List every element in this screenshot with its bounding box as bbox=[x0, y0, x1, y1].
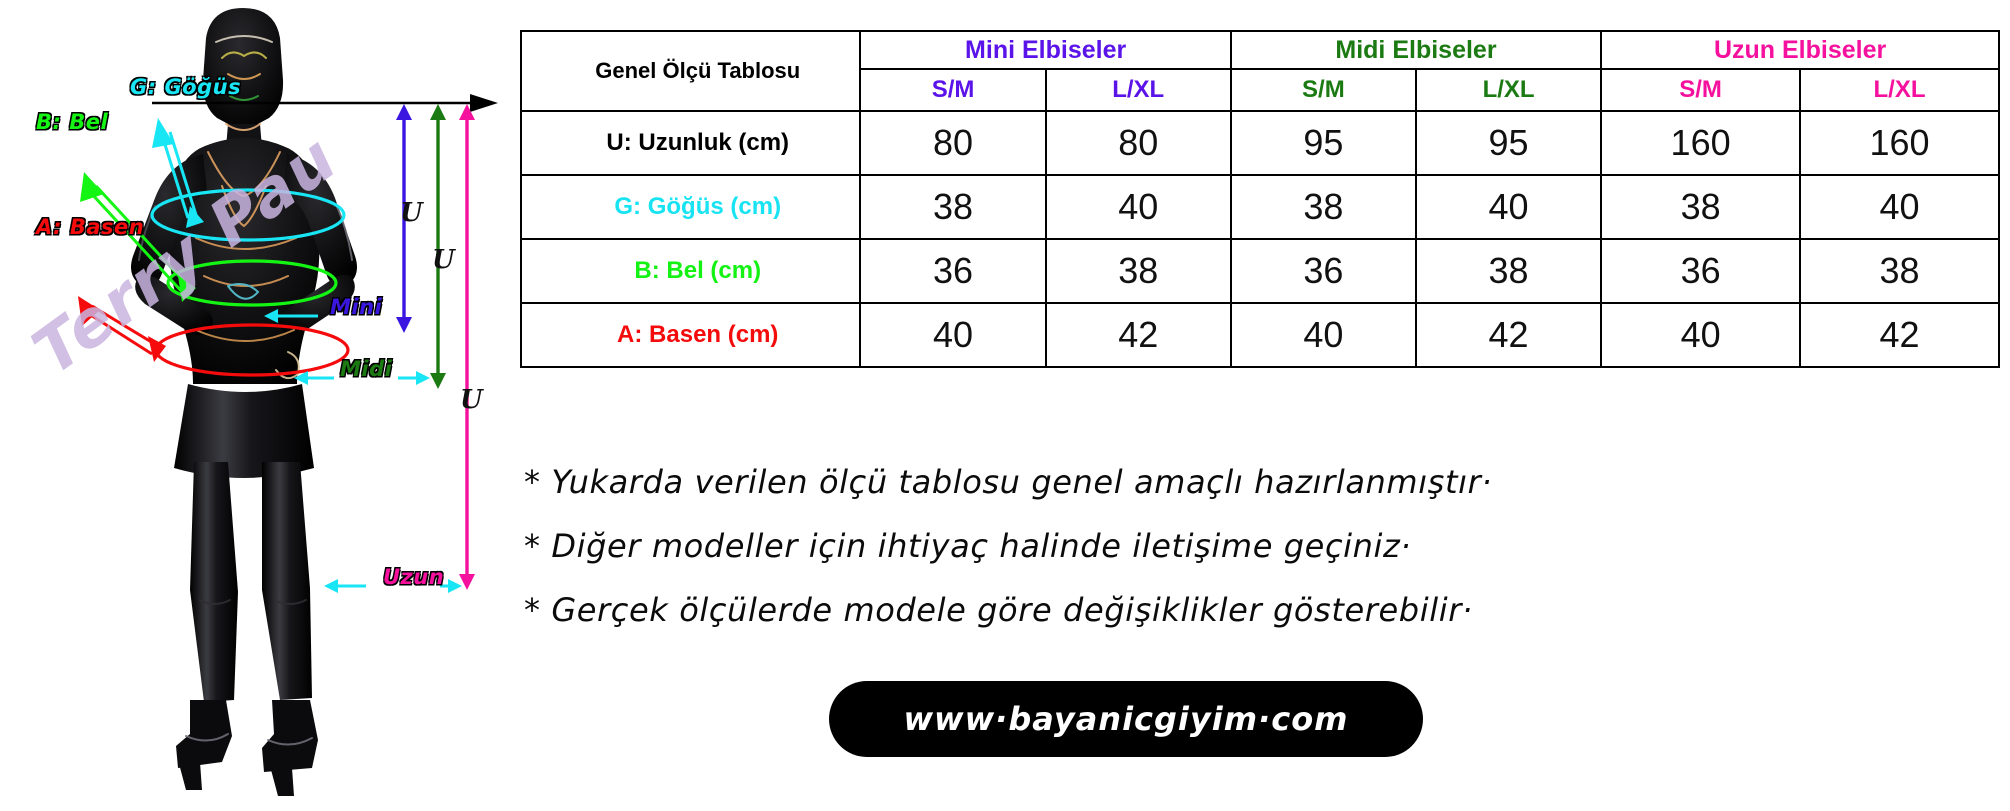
cell-bel-mini-lxl: 38 bbox=[1046, 239, 1231, 303]
cell-gogus-midi-lxl: 40 bbox=[1416, 175, 1601, 239]
uzun-length-arrow bbox=[459, 104, 475, 590]
group-header-mini: Mini Elbiseler bbox=[860, 31, 1230, 69]
cell-gogus-midi-sm: 38 bbox=[1231, 175, 1416, 239]
note-3: * Gerçek ölçülerde modele göre değişikli… bbox=[518, 578, 2010, 642]
size-header-midi-lxl: L/XL bbox=[1416, 69, 1601, 111]
length-marker-midi: U bbox=[432, 245, 455, 275]
cell-basen-mini-lxl: 42 bbox=[1046, 303, 1231, 367]
cell-uzunluk-mini-sm: 80 bbox=[860, 111, 1045, 175]
female-figure-silhouette bbox=[131, 8, 357, 796]
size-header-uzun-lxl: L/XL bbox=[1800, 69, 1999, 111]
measurements-panel: Genel Ölçü Tablosu Mini Elbiseler Midi E… bbox=[518, 0, 2010, 811]
table-row: A: Basen (cm) 40 42 40 42 40 42 bbox=[521, 303, 1999, 367]
row-label-bel: B: Bel (cm) bbox=[521, 239, 860, 303]
note-2: * Diğer modeller için ihtiyaç halinde il… bbox=[518, 514, 2010, 578]
length-marker-mini: U bbox=[400, 198, 423, 228]
cell-gogus-mini-lxl: 40 bbox=[1046, 175, 1231, 239]
size-header-uzun-sm: S/M bbox=[1601, 69, 1800, 111]
cell-uzunluk-midi-lxl: 95 bbox=[1416, 111, 1601, 175]
cell-uzunluk-uzun-lxl: 160 bbox=[1800, 111, 1999, 175]
size-chart-page: Terry Pau G: Göğüs B: Bel A: Basen Mini … bbox=[0, 0, 2010, 811]
table-corner-label: Genel Ölçü Tablosu bbox=[521, 31, 860, 111]
cell-basen-midi-lxl: 42 bbox=[1416, 303, 1601, 367]
cell-uzunluk-uzun-sm: 160 bbox=[1601, 111, 1800, 175]
label-midi: Midi bbox=[340, 357, 392, 381]
row-label-basen: A: Basen (cm) bbox=[521, 303, 860, 367]
group-header-midi: Midi Elbiseler bbox=[1231, 31, 1601, 69]
label-basen: A: Basen bbox=[36, 215, 144, 239]
row-label-gogus: G: Göğüs (cm) bbox=[521, 175, 860, 239]
row-label-uzunluk: U: Uzunluk (cm) bbox=[521, 111, 860, 175]
cell-bel-midi-lxl: 38 bbox=[1416, 239, 1601, 303]
group-header-uzun: Uzun Elbiseler bbox=[1601, 31, 1999, 69]
cell-bel-uzun-lxl: 38 bbox=[1800, 239, 1999, 303]
size-table: Genel Ölçü Tablosu Mini Elbiseler Midi E… bbox=[520, 30, 2000, 368]
label-gogus: G: Göğüs bbox=[130, 75, 241, 99]
table-row: B: Bel (cm) 36 38 36 38 36 38 bbox=[521, 239, 1999, 303]
cell-bel-uzun-sm: 36 bbox=[1601, 239, 1800, 303]
label-bel: B: Bel bbox=[36, 110, 108, 134]
label-mini: Mini bbox=[330, 295, 382, 319]
cell-gogus-uzun-sm: 38 bbox=[1601, 175, 1800, 239]
cell-basen-uzun-lxl: 42 bbox=[1800, 303, 1999, 367]
cell-basen-mini-sm: 40 bbox=[860, 303, 1045, 367]
table-header-group-row: Genel Ölçü Tablosu Mini Elbiseler Midi E… bbox=[521, 31, 1999, 69]
website-url-text: www·bayanicgiyim·com bbox=[903, 700, 1348, 738]
cell-bel-midi-sm: 36 bbox=[1231, 239, 1416, 303]
note-1: * Yukarda verilen ölçü tablosu genel ama… bbox=[518, 450, 2010, 514]
cell-uzunluk-midi-sm: 95 bbox=[1231, 111, 1416, 175]
cell-uzunluk-mini-lxl: 80 bbox=[1046, 111, 1231, 175]
cell-basen-uzun-sm: 40 bbox=[1601, 303, 1800, 367]
website-banner[interactable]: www·bayanicgiyim·com bbox=[836, 688, 1416, 750]
cell-gogus-mini-sm: 38 bbox=[860, 175, 1045, 239]
size-header-midi-sm: S/M bbox=[1231, 69, 1416, 111]
table-row: G: Göğüs (cm) 38 40 38 40 38 40 bbox=[521, 175, 1999, 239]
size-header-mini-lxl: L/XL bbox=[1046, 69, 1231, 111]
model-illustration-panel: Terry Pau G: Göğüs B: Bel A: Basen Mini … bbox=[0, 0, 515, 811]
length-marker-uzun: U bbox=[460, 385, 483, 415]
cell-gogus-uzun-lxl: 40 bbox=[1800, 175, 1999, 239]
table-row: U: Uzunluk (cm) 80 80 95 95 160 160 bbox=[521, 111, 1999, 175]
label-uzun: Uzun bbox=[383, 565, 444, 589]
notes-list: * Yukarda verilen ölçü tablosu genel ama… bbox=[518, 450, 2010, 642]
cell-bel-mini-sm: 36 bbox=[860, 239, 1045, 303]
cell-basen-midi-sm: 40 bbox=[1231, 303, 1416, 367]
size-header-mini-sm: S/M bbox=[860, 69, 1045, 111]
